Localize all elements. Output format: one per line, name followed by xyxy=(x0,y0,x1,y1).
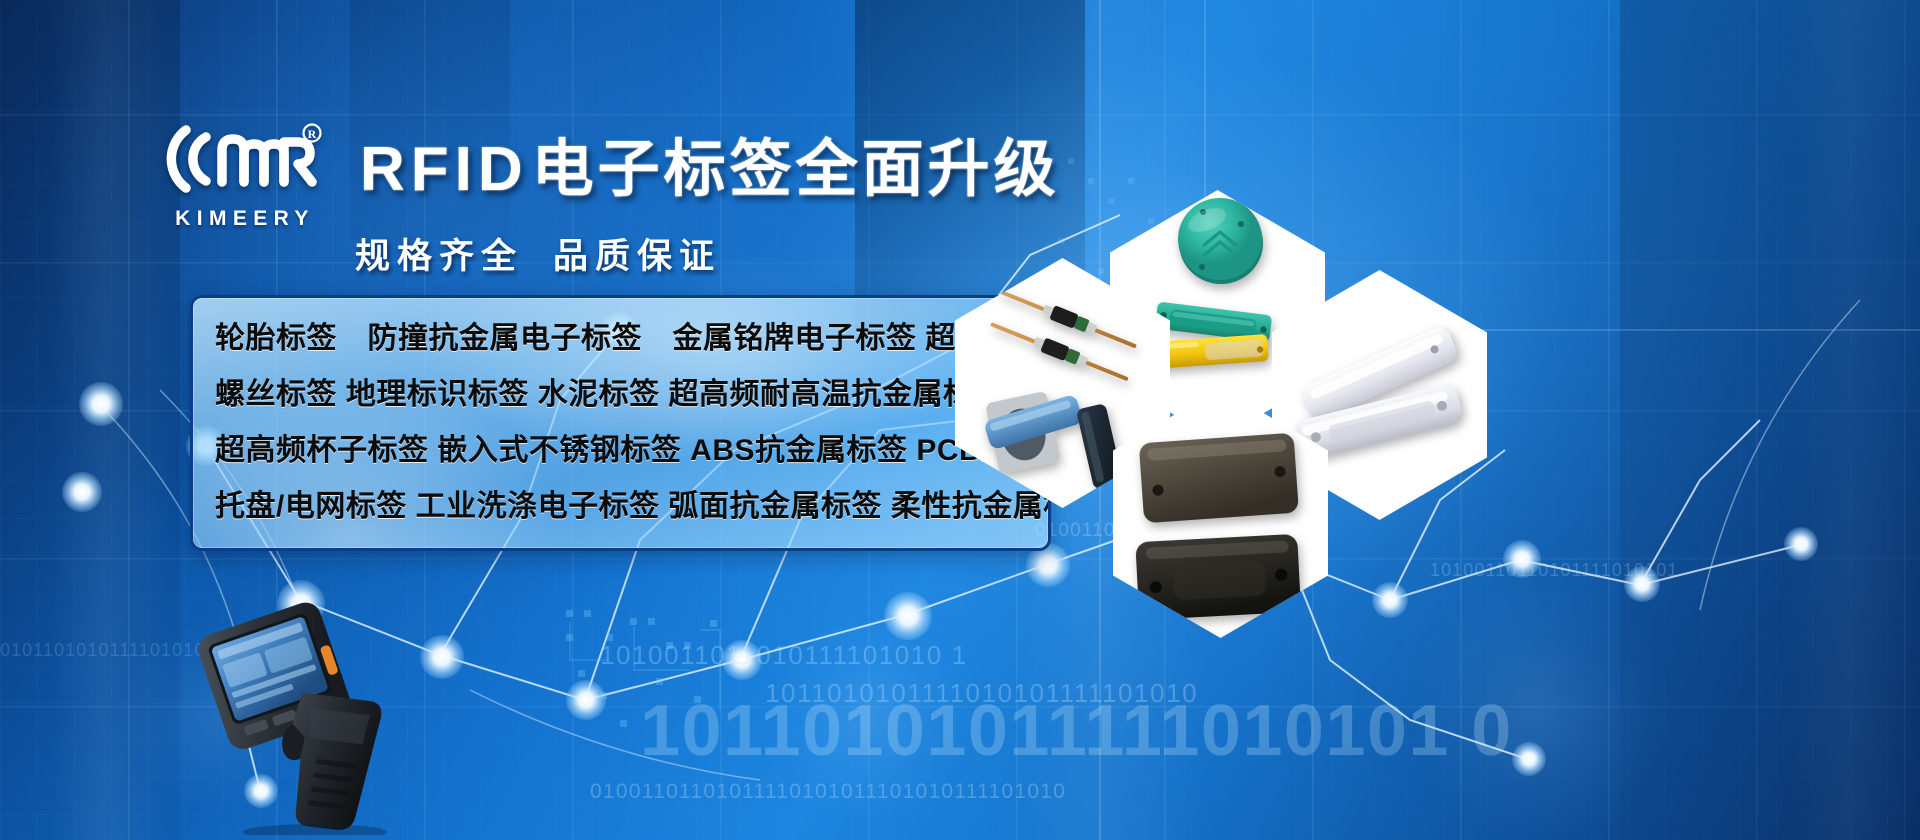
handheld-rfid-reader-icon xyxy=(175,600,425,835)
subheadline-left: 规格齐全 xyxy=(355,237,523,276)
headline: RFID电子标签全面升级 xyxy=(360,118,1060,208)
brand-wordmark: KIMEERY xyxy=(160,207,325,231)
teal-round-disc-tag xyxy=(1178,198,1263,284)
brand-logo: R KIMEERY xyxy=(160,120,325,231)
network-node xyxy=(1372,582,1408,618)
headline-latin: RFID xyxy=(360,135,532,204)
binary-text: 10100110110101111010101 xyxy=(1430,560,1678,581)
dark-brown-anti-metal-tag xyxy=(1139,433,1299,524)
network-node xyxy=(62,472,102,512)
network-node xyxy=(884,592,932,640)
blue-rectangular-tag xyxy=(983,391,1084,474)
binary-text-large: 10110101011111010101 0 xyxy=(640,690,1513,772)
network-node xyxy=(1784,527,1818,561)
network-node xyxy=(420,635,464,679)
subheadline: 规格齐全品质保证 xyxy=(355,228,721,279)
product-list-box: 轮胎标签 防撞抗金属电子标签 金属铭牌电子标签 超高频工具标签 螺丝标签 地理标… xyxy=(190,295,1051,551)
product-list-row: 托盘/电网标签 工业洗涤电子标签 弧面抗金属标签 柔性抗金属标签 xyxy=(193,479,1048,535)
copper-rod-tag-pair xyxy=(988,284,1139,386)
network-node xyxy=(1512,742,1546,776)
product-list-row: 超高频杯子标签 嵌入式不锈钢标签 ABS抗金属标签 PCB/陶瓷电子标签 xyxy=(193,423,1048,479)
subheadline-right: 品质保证 xyxy=(553,237,721,276)
headline-cjk: 电子标签全面升级 xyxy=(532,135,1060,204)
product-list-row: 轮胎标签 防撞抗金属电子标签 金属铭牌电子标签 超高频工具标签 xyxy=(193,311,1048,367)
binary-text: 1010011011010111101010 1 xyxy=(600,640,968,671)
handheld-rfid-reader xyxy=(175,600,425,830)
kimeery-wave-mark-icon: R xyxy=(160,120,325,198)
product-list-row: 螺丝标签 地理标识标签 水泥标签 超高频耐高温抗金属标签 硅胶腕带 xyxy=(193,367,1048,423)
svg-text:R: R xyxy=(308,127,317,141)
network-node xyxy=(79,382,123,426)
registered-icon: R xyxy=(304,125,321,142)
binary-text: 01001101101011110101011101010111101010 xyxy=(590,780,1066,804)
rfid-promo-banner: 0100110110101111010101 10100110110101111… xyxy=(0,0,1920,840)
